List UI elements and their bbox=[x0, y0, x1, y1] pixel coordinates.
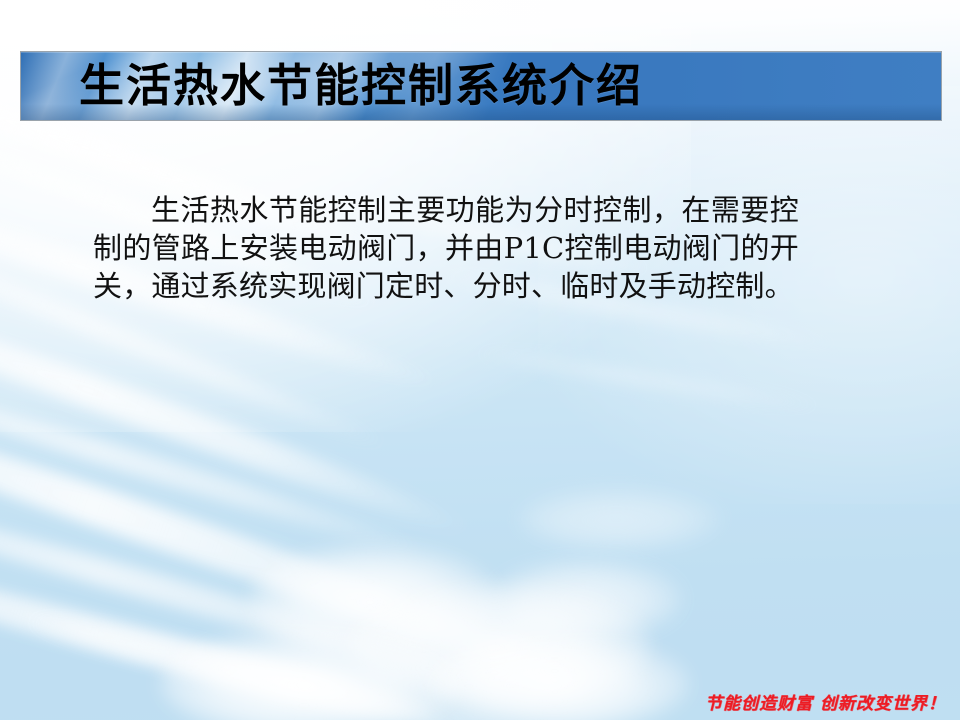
slide-title-bar: 生活热水节能控制系统介绍 bbox=[20, 51, 942, 121]
footer-slogan: 节能创造财富 创新改变世界！ bbox=[705, 689, 946, 714]
slide-body-paragraph: 生活热水节能控制主要功能为分时控制，在需要控制的管路上安装电动阀门，并由P1C控… bbox=[93, 191, 799, 305]
cloud-puff bbox=[520, 488, 720, 550]
slide-title: 生活热水节能控制系统介绍 bbox=[79, 52, 643, 120]
presentation-slide: 生活热水节能控制系统介绍 生活热水节能控制主要功能为分时控制，在需要控制的管路上… bbox=[0, 0, 960, 720]
